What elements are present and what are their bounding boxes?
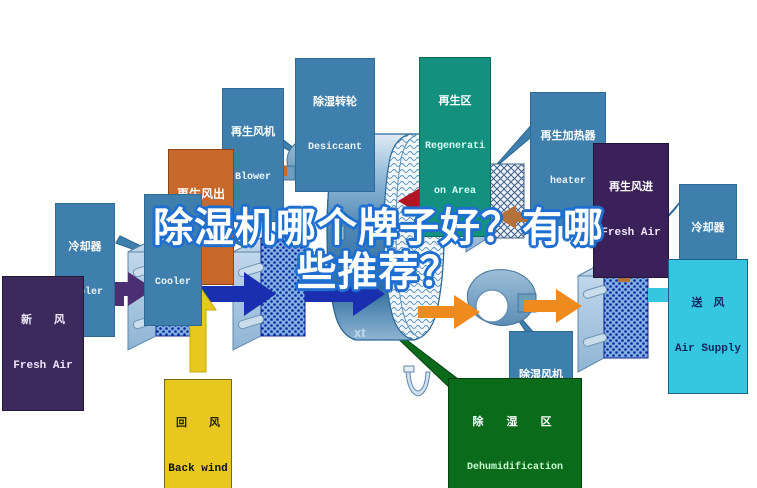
label-cooler-left-cn: 冷却器 [58,242,112,254]
condensate-drain-tray [404,366,430,396]
label-regen-fresh-air-cn: 再生风进 [596,182,666,194]
label-cooler-left-second-en: Cooler [147,278,199,289]
label-air-supply: 送 风 Air Supply [668,259,748,394]
label-dehumidification-district-en1: Dehumidification [451,463,579,474]
watermark-text: xt [354,325,366,340]
label-regeneration-area-en1: Regenerati [422,142,488,153]
label-cooler-left-second: 冷却器 Cooler [144,194,202,326]
label-fresh-air-in-en: Fresh Air [5,361,81,373]
label-regen-heater-cn: 再生加热器 [533,131,603,143]
cooling-coil-supply [578,262,648,372]
label-back-wind-cn: 回 风 [167,418,229,430]
label-fresh-air-in: 新 风 Fresh Air [2,276,84,411]
label-regeneration-area-cn: 再生区 [422,96,488,108]
label-regeneration-area-en2: on Area [422,187,488,198]
label-cooler-right-cn: 冷却器 [682,223,734,235]
label-air-supply-en: Air Supply [671,344,745,356]
label-regen-fresh-air-en: Fresh Air [596,228,666,240]
diagram-canvas: xt 除湿转轮 Desiccant 再生风机 Blower 再生风出 Exhau… [0,0,757,488]
label-back-wind-en: Back wind [167,464,229,476]
label-regeneration-area: 再生区 Regenerati on Area [419,57,491,237]
label-back-wind: 回 风 Back wind [164,379,232,488]
label-fresh-air-in-cn: 新 风 [5,315,81,327]
label-dehumidification-district-cn: 除 湿 区 [451,417,579,429]
label-regen-blower-cn: 再生风机 [225,127,281,139]
label-desiccant-wheel-cn: 除湿转轮 [298,97,372,109]
label-cooler-left-second-cn: 冷却器 [147,232,199,244]
label-dehumidification-district: 除 湿 区 Dehumidification District [448,378,582,488]
process-fan-housing [467,270,536,326]
label-desiccant-wheel-en: Desiccant [298,143,372,154]
label-regen-fresh-air: 再生风进 Fresh Air [593,143,669,278]
label-desiccant-wheel: 除湿转轮 Desiccant [295,58,375,192]
label-air-supply-cn: 送 风 [671,298,745,310]
